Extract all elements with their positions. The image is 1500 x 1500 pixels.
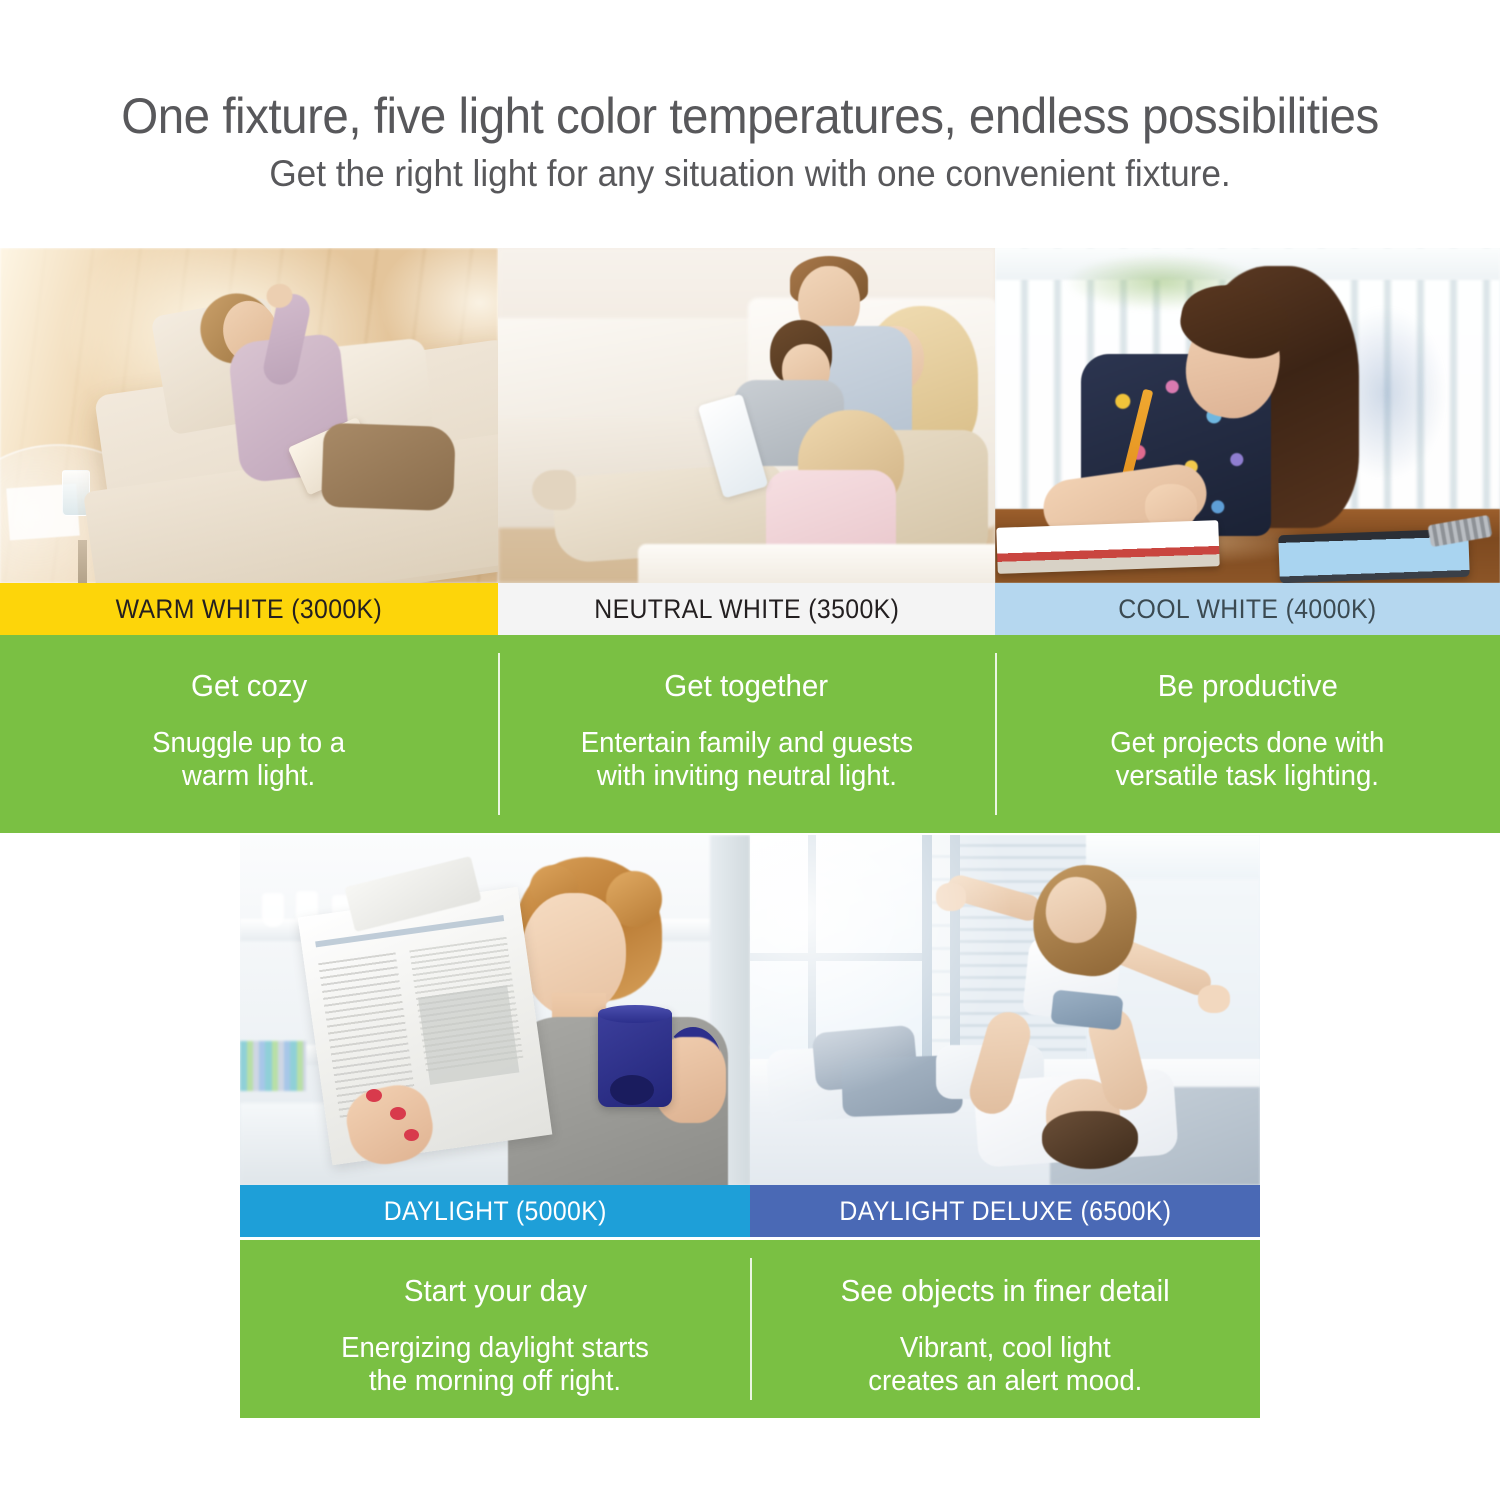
temperature-row-bottom: DAYLIGHT (5000K): [240, 835, 1260, 1237]
temperature-card-warm-white[interactable]: WARM WHITE (3000K): [0, 248, 498, 635]
copy-body-line2: creates an alert mood.: [868, 1365, 1142, 1398]
copy-title-warm-white: Get cozy: [191, 669, 307, 703]
temperature-card-cool-white[interactable]: COOL WHITE (4000K): [995, 248, 1500, 635]
temperature-card-neutral-white[interactable]: NEUTRAL WHITE (3500K): [498, 248, 995, 635]
header: One fixture, five light color temperatur…: [0, 0, 1500, 248]
copy-body-line1: Get projects done with: [1110, 727, 1384, 760]
copy-body-line1: Entertain family and guests: [580, 727, 912, 760]
copy-cell-warm-white: Get cozy Snuggle up to a warm light.: [0, 635, 498, 833]
copy-body-line2: with inviting neutral light.: [580, 760, 912, 793]
copy-cell-daylight: Start your day Energizing daylight start…: [240, 1240, 750, 1418]
copy-title-cool-white: Be productive: [1157, 669, 1337, 703]
label-text-daylight-deluxe: DAYLIGHT DELUXE (6500K): [839, 1196, 1171, 1227]
label-bar-warm-white: WARM WHITE (3000K): [0, 583, 498, 635]
temperature-row-top: WARM WHITE (3000K) N: [0, 248, 1500, 635]
copy-body-line2: versatile task lighting.: [1110, 760, 1384, 793]
page-subtitle: Get the right light for any situation wi…: [38, 152, 1463, 196]
copy-panel-top: Get cozy Snuggle up to a warm light. Get…: [0, 635, 1500, 833]
copy-body-line2: warm light.: [152, 760, 345, 793]
photo-daylight-deluxe: [750, 835, 1260, 1185]
copy-body-line2: the morning off right.: [341, 1365, 649, 1398]
label-bar-neutral-white: NEUTRAL WHITE (3500K): [498, 583, 995, 635]
copy-divider: [995, 653, 997, 815]
copy-body-neutral-white: Entertain family and guests with invitin…: [580, 727, 912, 793]
photo-warm-white: [0, 248, 498, 583]
copy-title-daylight: Start your day: [403, 1274, 586, 1308]
photo-daylight: [240, 835, 750, 1185]
label-text-neutral-white: NEUTRAL WHITE (3500K): [594, 594, 899, 625]
temperature-card-daylight-deluxe[interactable]: DAYLIGHT DELUXE (6500K): [750, 835, 1260, 1237]
copy-title-neutral-white: Get together: [665, 669, 829, 703]
copy-body-warm-white: Snuggle up to a warm light.: [152, 727, 345, 793]
copy-panel-bottom: Start your day Energizing daylight start…: [240, 1240, 1260, 1418]
infographic-page: One fixture, five light color temperatur…: [0, 0, 1500, 1500]
label-text-warm-white: WARM WHITE (3000K): [116, 594, 383, 625]
copy-body-daylight: Energizing daylight starts the morning o…: [341, 1332, 649, 1398]
photo-neutral-white: [498, 248, 995, 583]
label-bar-daylight-deluxe: DAYLIGHT DELUXE (6500K): [750, 1185, 1260, 1237]
temperature-card-daylight[interactable]: DAYLIGHT (5000K): [240, 835, 750, 1237]
label-text-cool-white: COOL WHITE (4000K): [1118, 594, 1376, 625]
label-bar-cool-white: COOL WHITE (4000K): [995, 583, 1500, 635]
copy-body-line1: Snuggle up to a: [152, 727, 345, 760]
photo-cool-white: [995, 248, 1500, 583]
copy-divider: [750, 1258, 752, 1400]
copy-cell-cool-white: Be productive Get projects done with ver…: [995, 635, 1500, 833]
page-title: One fixture, five light color temperatur…: [38, 88, 1463, 144]
copy-body-line1: Energizing daylight starts: [341, 1332, 649, 1365]
copy-body-cool-white: Get projects done with versatile task li…: [1110, 727, 1384, 793]
copy-divider: [498, 653, 500, 815]
copy-body-line1: Vibrant, cool light: [868, 1332, 1142, 1365]
copy-title-daylight-deluxe: See objects in finer detail: [840, 1274, 1169, 1308]
copy-body-daylight-deluxe: Vibrant, cool light creates an alert moo…: [868, 1332, 1142, 1398]
label-text-daylight: DAYLIGHT (5000K): [383, 1196, 606, 1227]
label-bar-daylight: DAYLIGHT (5000K): [240, 1185, 750, 1237]
copy-cell-neutral-white: Get together Entertain family and guests…: [498, 635, 995, 833]
copy-cell-daylight-deluxe: See objects in finer detail Vibrant, coo…: [750, 1240, 1260, 1418]
